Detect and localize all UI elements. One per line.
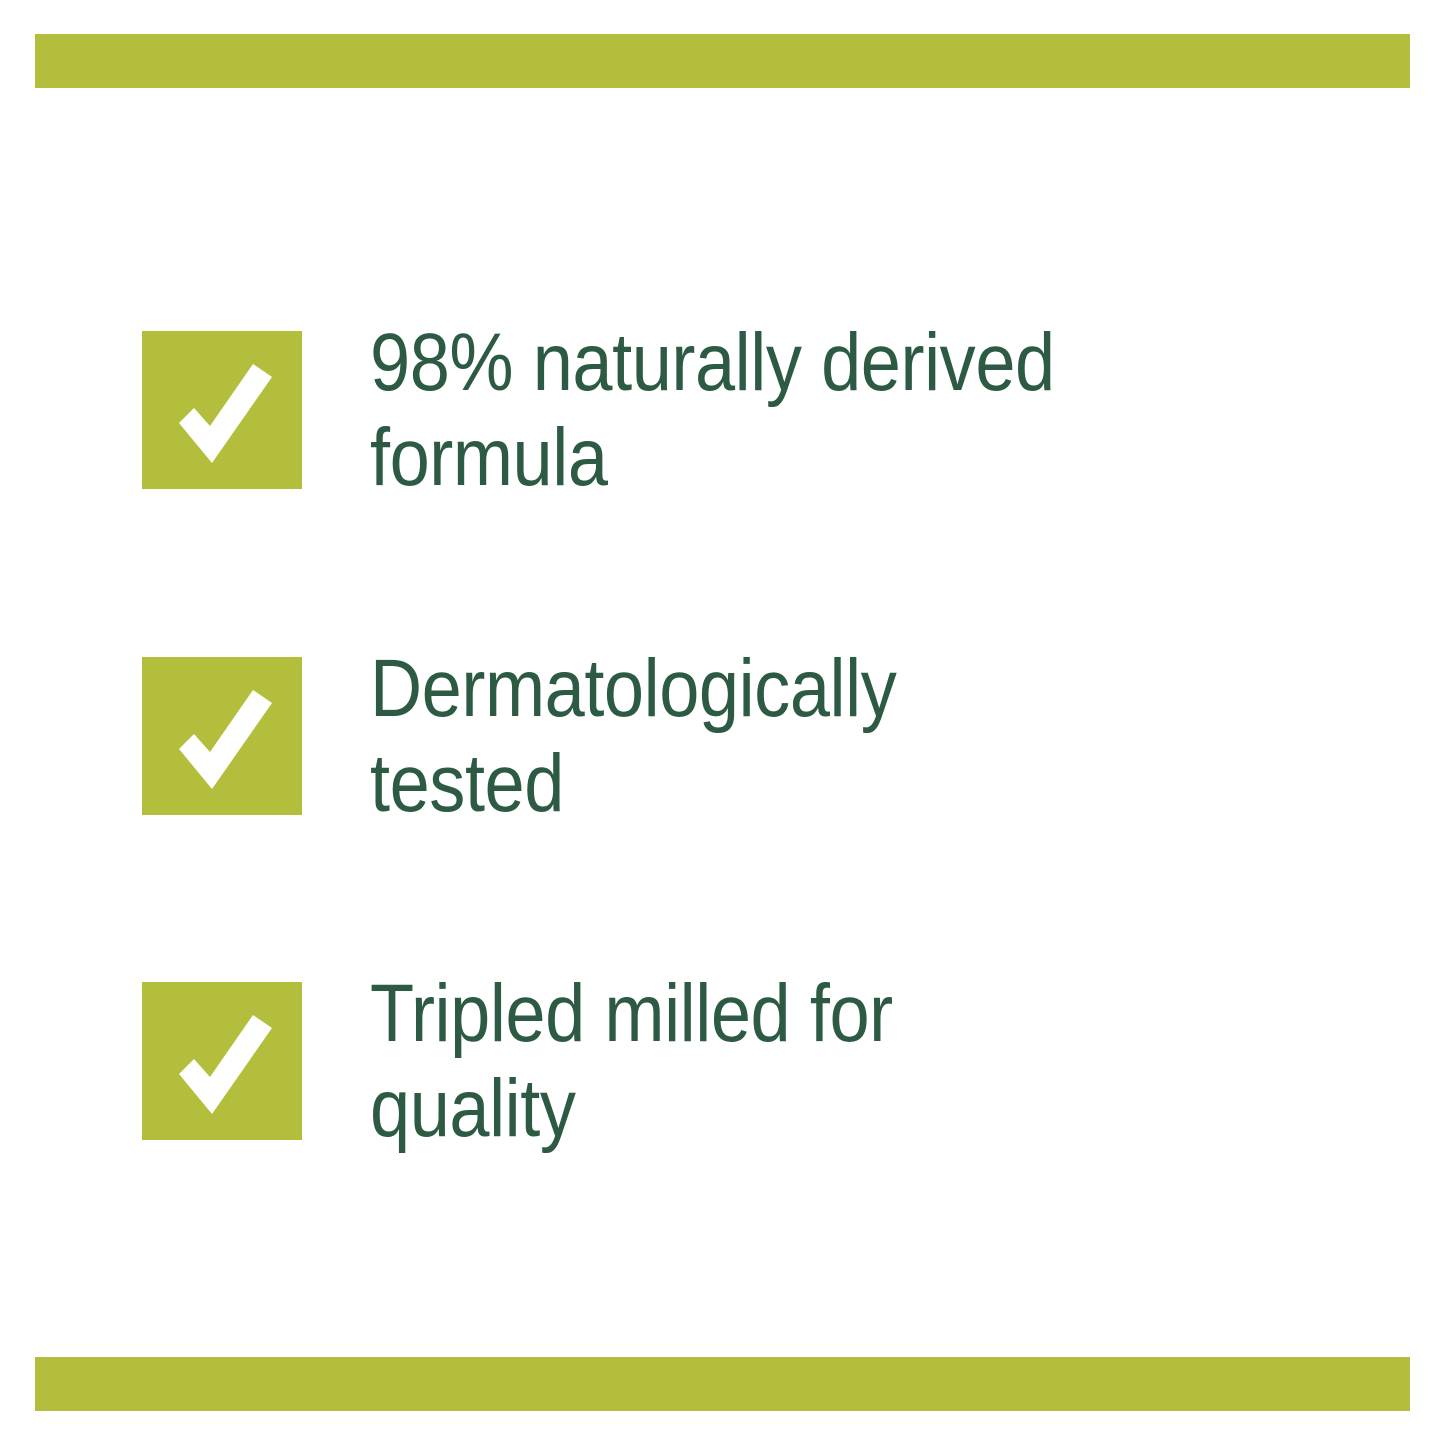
benefit-label: Tripled milled for quality	[370, 966, 1225, 1156]
benefit-list: 98% naturally derived formula Dermatolog…	[0, 0, 1445, 1445]
benefit-item: Tripled milled for quality	[142, 982, 1342, 1182]
checkmark-icon	[142, 982, 302, 1140]
benefit-item: 98% naturally derived formula	[142, 331, 1342, 531]
checkbox-checked[interactable]	[142, 982, 302, 1140]
checkbox-checked[interactable]	[142, 331, 302, 489]
checkmark-icon	[142, 331, 302, 489]
checkmark-icon	[142, 657, 302, 815]
bottom-divider-bar	[35, 1357, 1410, 1411]
product-benefits-card: 98% naturally derived formula Dermatolog…	[0, 0, 1445, 1445]
benefit-label: 98% naturally derived formula	[370, 315, 1225, 505]
benefit-item: Dermatologically tested	[142, 657, 1342, 857]
benefit-label: Dermatologically tested	[370, 641, 1225, 831]
checkbox-checked[interactable]	[142, 657, 302, 815]
